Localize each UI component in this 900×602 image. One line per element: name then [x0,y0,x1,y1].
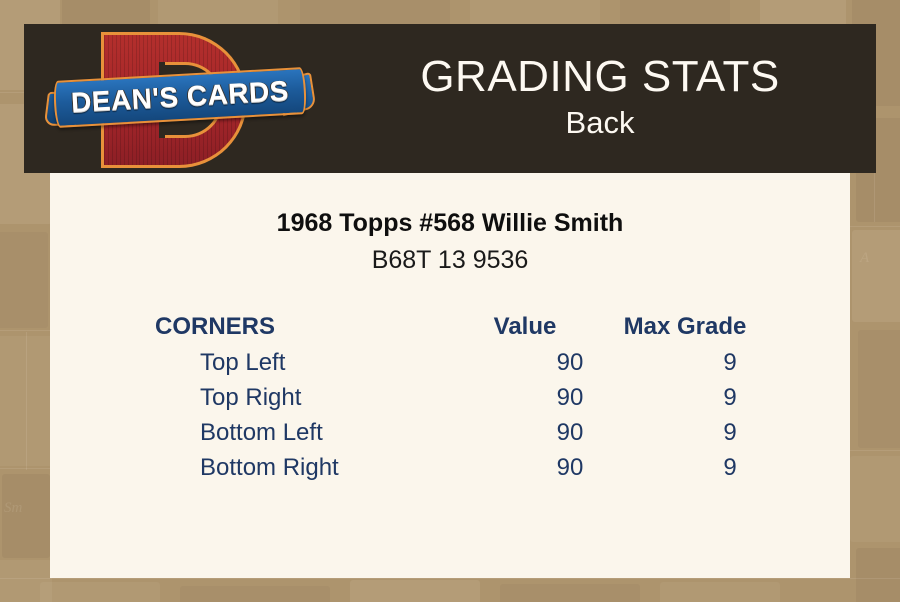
column-header-max-grade: Max Grade [595,313,775,341]
corner-max-grade: 9 [640,454,820,482]
corner-label: Top Right [155,384,500,412]
logo-ribbon-banner: DEAN'S CARDS [46,70,314,130]
page-title: GRADING STATS [420,54,779,101]
table-row: Bottom Right 90 9 [155,454,845,489]
card-title: 1968 Topps #568 Willie Smith [50,209,850,238]
corner-max-grade: 9 [640,384,820,412]
table-row: Bottom Left 90 9 [155,419,845,454]
corner-max-grade: 9 [640,419,820,447]
header-title-block: GRADING STATS Back [324,24,876,173]
deans-cards-logo[interactable]: DEAN'S CARDS [46,26,316,172]
corner-value: 90 [500,384,640,412]
corner-label: Bottom Left [155,419,500,447]
corner-label: Top Left [155,349,500,377]
page-subtitle: Back [566,104,635,143]
corner-value: 90 [500,419,640,447]
table-row: Top Left 90 9 [155,349,845,384]
corner-label: Bottom Right [155,454,500,482]
content-panel: 1968 Topps #568 Willie Smith B68T 13 953… [50,173,850,578]
corner-value: 90 [500,454,640,482]
column-header-value: Value [455,313,595,341]
table-header-row: CORNERS Value Max Grade [155,313,845,349]
column-header-corners: CORNERS [155,313,455,341]
table-row: Top Right 90 9 [155,384,845,419]
header-bar: DEAN'S CARDS GRADING STATS Back [24,24,876,173]
grading-stats-page: Sm A DEAN'S CARDS GRADING STATS Back [0,0,900,602]
corner-value: 90 [500,349,640,377]
corner-max-grade: 9 [640,349,820,377]
card-serial-number: B68T 13 9536 [50,246,850,275]
grading-stats-table: CORNERS Value Max Grade Top Left 90 9 To… [155,313,845,489]
